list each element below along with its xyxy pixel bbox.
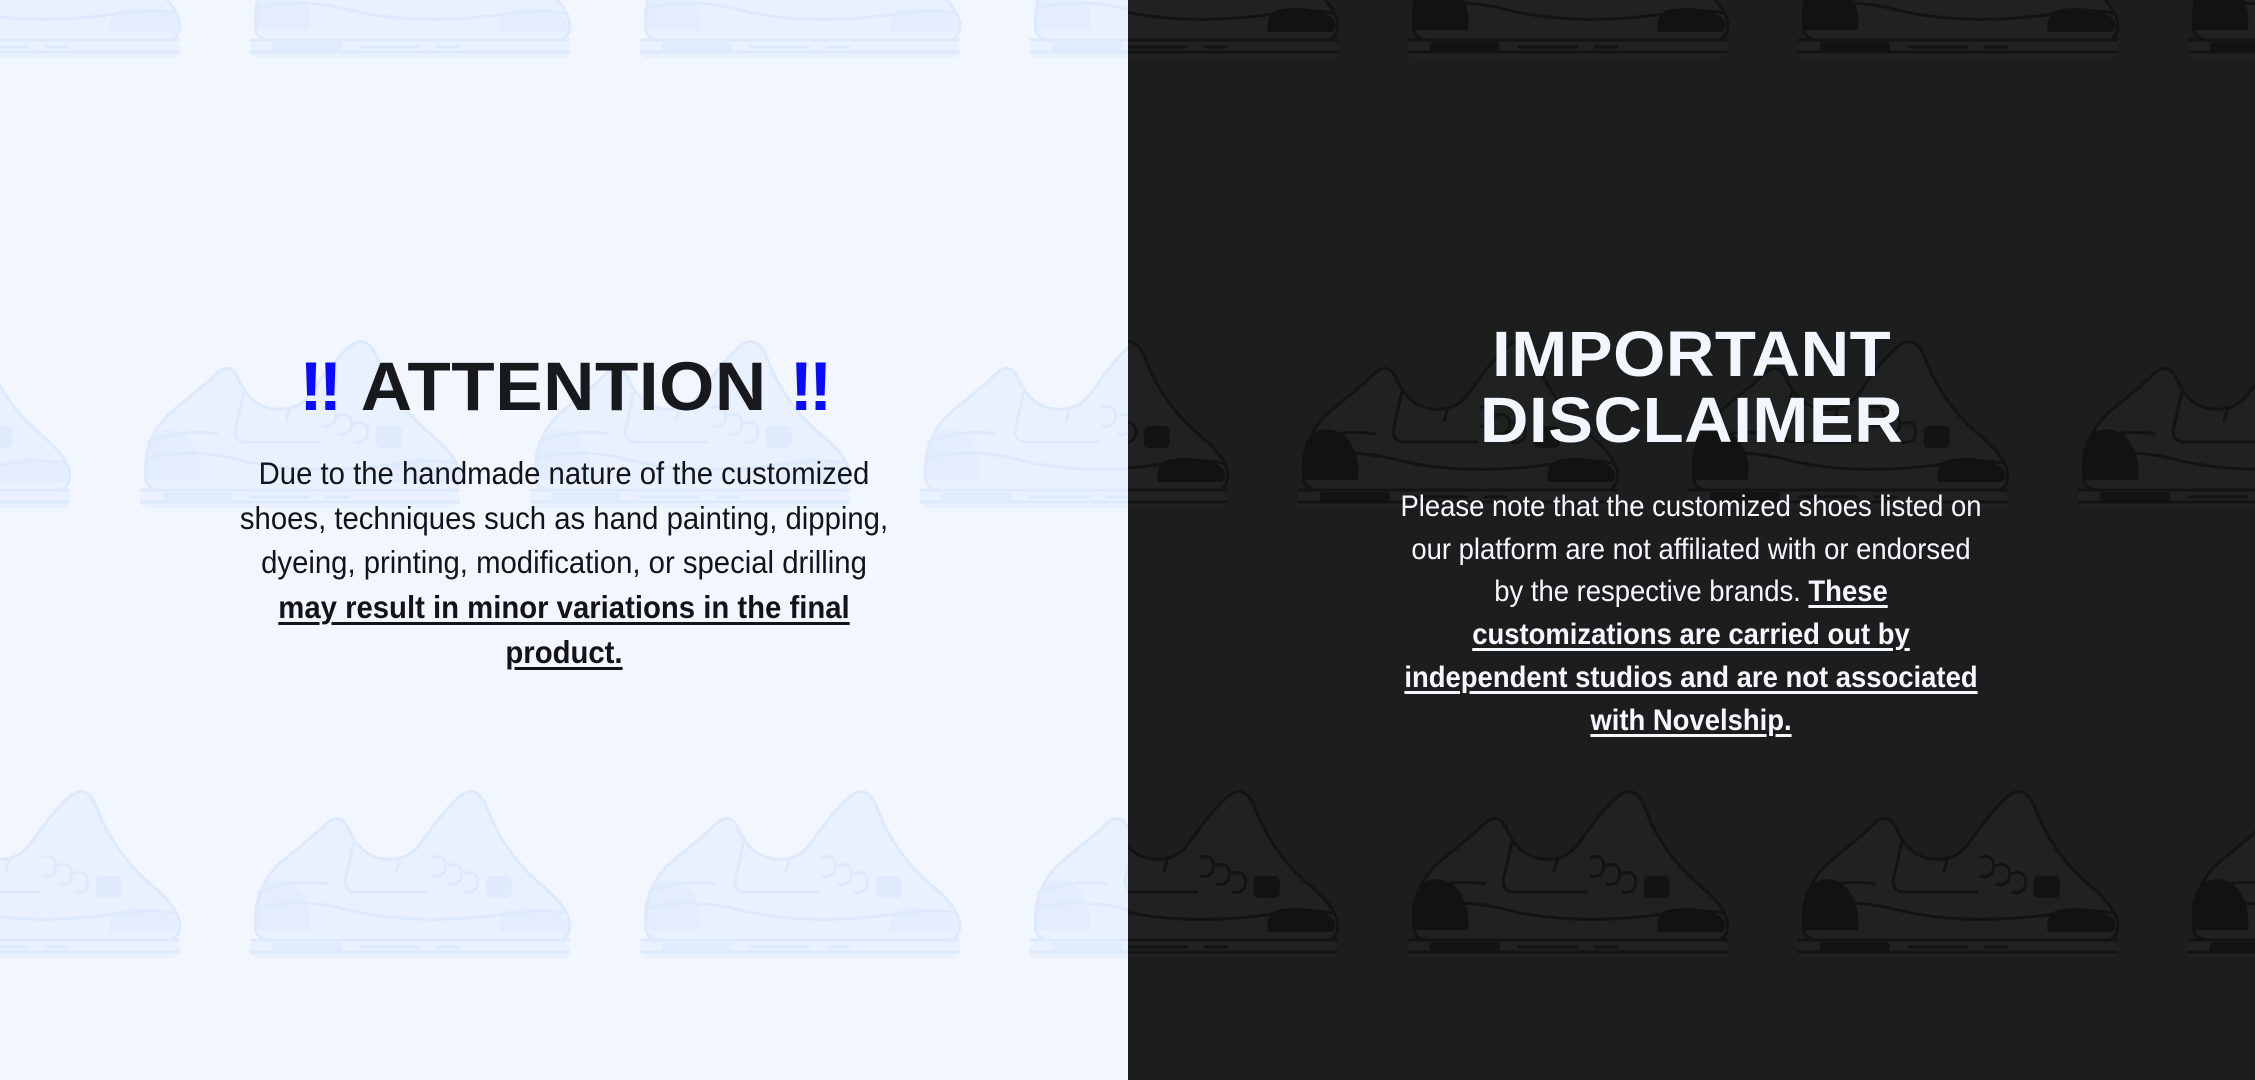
attention-content: ‼ATTENTION‼ Due to the handmade nature o… [0, 0, 1128, 1080]
disclaimer-panel: IMPORTANTDISCLAIMER Please note that the… [1128, 0, 2255, 1080]
disclaimer-heading-line2: DISCLAIMER [1480, 388, 1903, 454]
attention-heading-text: ATTENTION [361, 348, 767, 425]
attention-body-emphasis: may result in minor variations in the fi… [278, 589, 849, 670]
disclaimer-heading: IMPORTANTDISCLAIMER [1480, 322, 1903, 454]
disclaimer-content: IMPORTANTDISCLAIMER Please note that the… [1128, 0, 2255, 1080]
disclaimer-body: Please note that the customized shoes li… [1394, 486, 1989, 743]
attention-body: Due to the handmade nature of the custom… [238, 451, 889, 675]
disclaimer-heading-line1: IMPORTANT [1480, 322, 1903, 388]
disclaimer-body-normal: Please note that the customized shoes li… [1401, 490, 1982, 609]
attention-body-normal: Due to the handmade nature of the custom… [240, 455, 888, 580]
disclaimer-banner: ‼ATTENTION‼ Due to the handmade nature o… [0, 0, 2255, 1080]
attention-heading: ‼ATTENTION‼ [299, 352, 828, 421]
double-exclamation-icon-left: ‼ [299, 352, 338, 421]
double-exclamation-icon-right: ‼ [789, 352, 828, 421]
attention-panel: ‼ATTENTION‼ Due to the handmade nature o… [0, 0, 1128, 1080]
